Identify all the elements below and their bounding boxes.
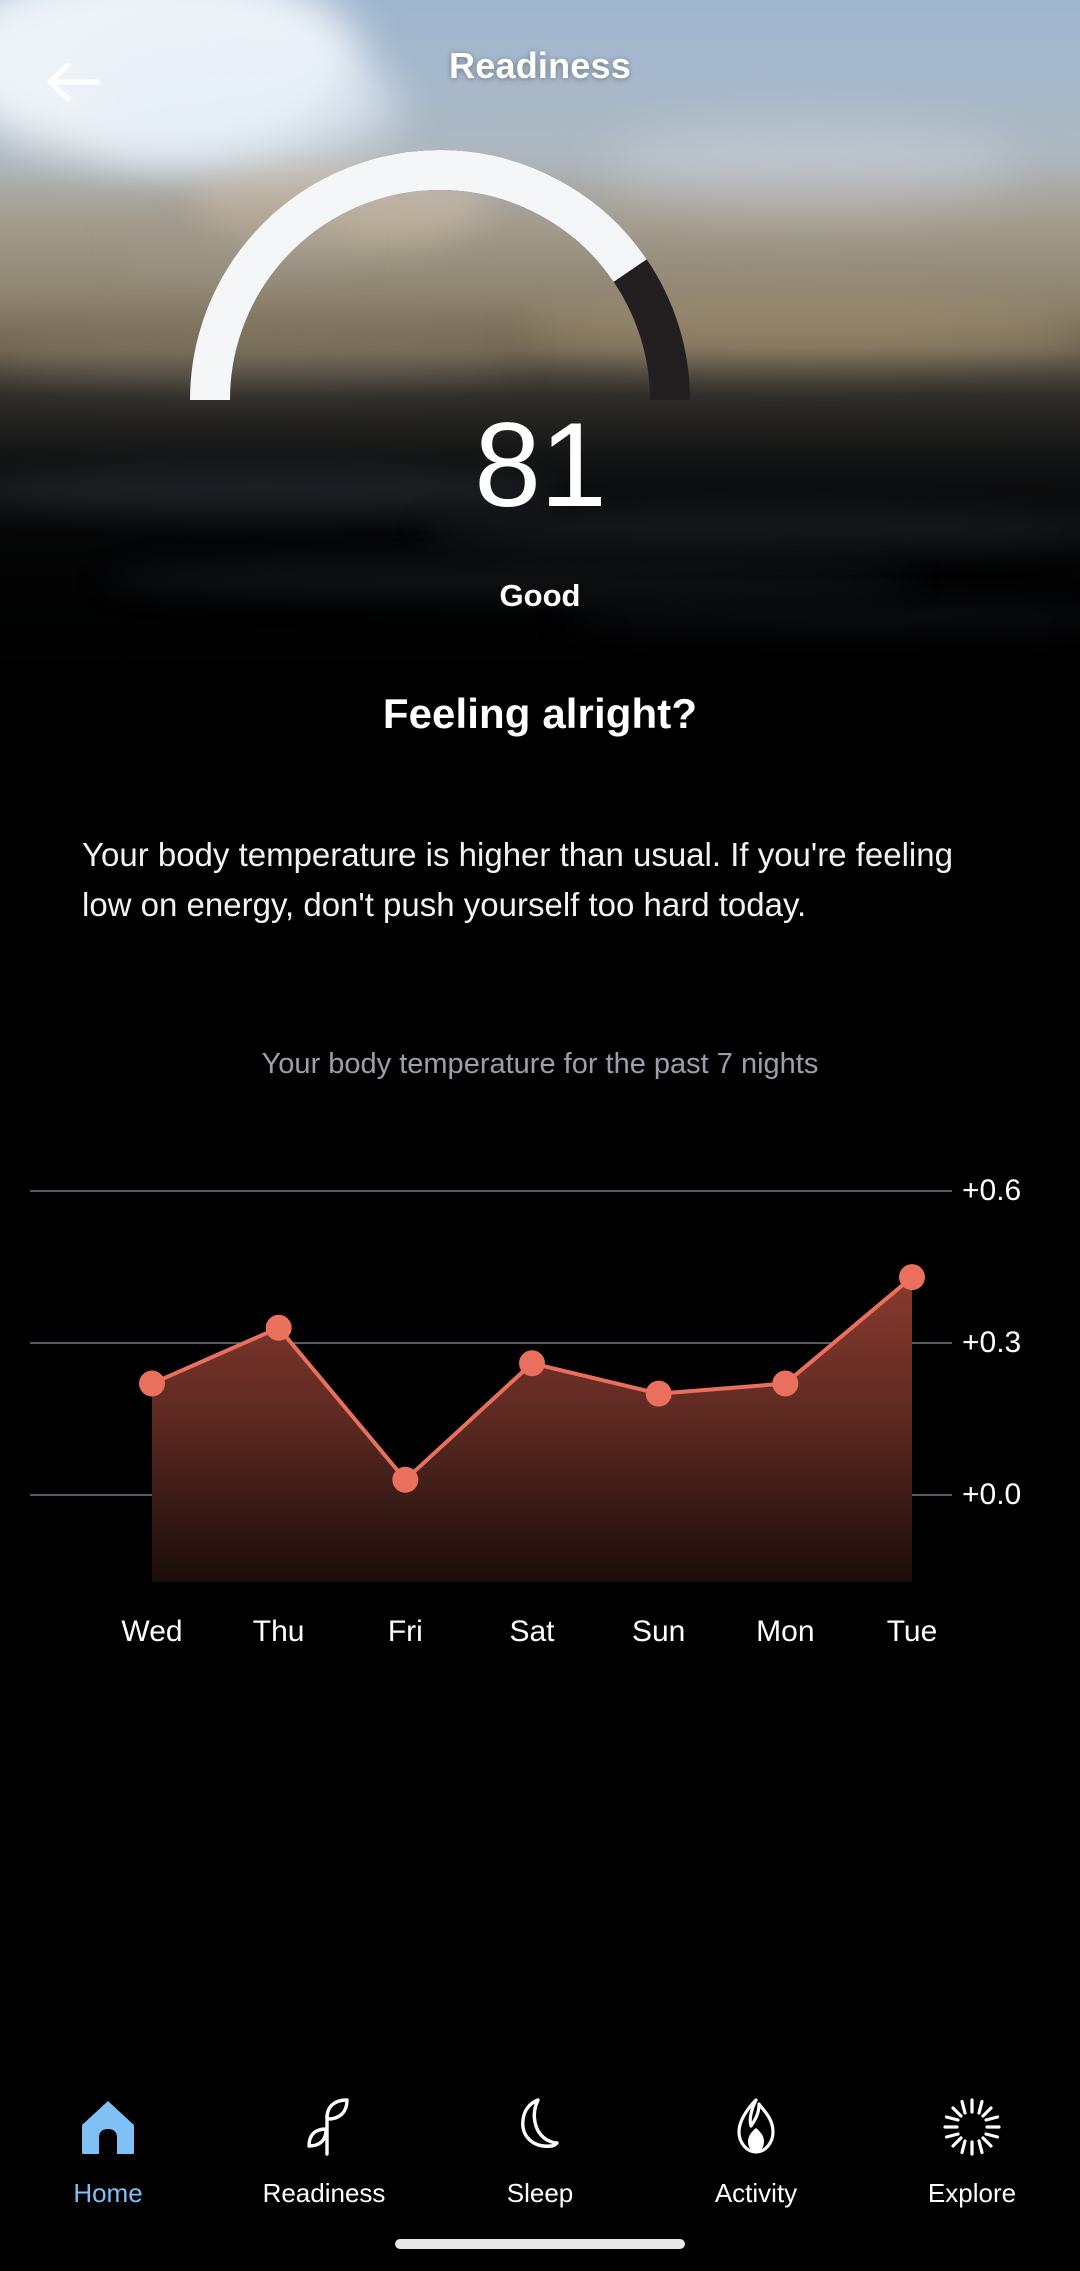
readiness-screen: Readiness 81 Good Feeling alright? Your … bbox=[0, 0, 1080, 2271]
x-axis-label-mon: Mon bbox=[715, 1615, 855, 1649]
nav-item-home[interactable]: Home bbox=[0, 2084, 216, 2209]
home-icon bbox=[65, 2084, 151, 2170]
insight-body: Your body temperature is higher than usu… bbox=[82, 830, 962, 930]
readiness-score-label: Good bbox=[0, 578, 1080, 614]
sprout-icon bbox=[281, 2084, 367, 2170]
chart-point[interactable] bbox=[772, 1371, 798, 1397]
readiness-score: 81 bbox=[0, 405, 1080, 525]
x-axis-label-sun: Sun bbox=[589, 1615, 729, 1649]
y-axis-label: +0.6 bbox=[962, 1174, 1021, 1208]
nav-item-sleep[interactable]: Sleep bbox=[432, 2084, 648, 2209]
moon-icon bbox=[497, 2084, 583, 2170]
home-indicator bbox=[395, 2239, 685, 2249]
nav-item-readiness[interactable]: Readiness bbox=[216, 2084, 432, 2209]
nav-item-activity[interactable]: Activity bbox=[648, 2084, 864, 2209]
x-axis-label-tue: Tue bbox=[842, 1615, 982, 1649]
chart-point[interactable] bbox=[266, 1315, 292, 1341]
chart-area-fill bbox=[152, 1277, 912, 1582]
body-temperature-chart[interactable]: +0.6 +0.3 +0.0 bbox=[0, 1160, 1080, 1640]
chart-point[interactable] bbox=[646, 1381, 672, 1407]
y-axis-label: +0.3 bbox=[962, 1326, 1021, 1360]
x-axis-label-wed: Wed bbox=[82, 1615, 222, 1649]
y-axis-label: +0.0 bbox=[962, 1478, 1021, 1512]
chart-point[interactable] bbox=[139, 1371, 165, 1397]
sunburst-icon bbox=[929, 2084, 1015, 2170]
nav-item-explore[interactable]: Explore bbox=[864, 2084, 1080, 2209]
x-axis-label-sat: Sat bbox=[462, 1615, 602, 1649]
x-axis-label-fri: Fri bbox=[335, 1615, 475, 1649]
chart-point[interactable] bbox=[519, 1350, 545, 1376]
insight-headline: Feeling alright? bbox=[0, 690, 1080, 738]
chart-caption: Your body temperature for the past 7 nig… bbox=[0, 1048, 1080, 1081]
nav-label-explore: Explore bbox=[928, 2178, 1016, 2209]
flame-icon bbox=[713, 2084, 799, 2170]
chart-point[interactable] bbox=[392, 1467, 418, 1493]
top-bar: Readiness bbox=[0, 0, 1080, 140]
nav-label-activity: Activity bbox=[715, 2178, 797, 2209]
x-axis-label-thu: Thu bbox=[209, 1615, 349, 1649]
chart-point[interactable] bbox=[899, 1264, 925, 1290]
page-title: Readiness bbox=[0, 45, 1080, 87]
nav-label-home: Home bbox=[73, 2178, 142, 2209]
nav-label-readiness: Readiness bbox=[263, 2178, 386, 2209]
readiness-gauge: 81 Good bbox=[0, 150, 1080, 570]
chart-canvas bbox=[0, 1160, 1080, 1640]
nav-label-sleep: Sleep bbox=[507, 2178, 574, 2209]
